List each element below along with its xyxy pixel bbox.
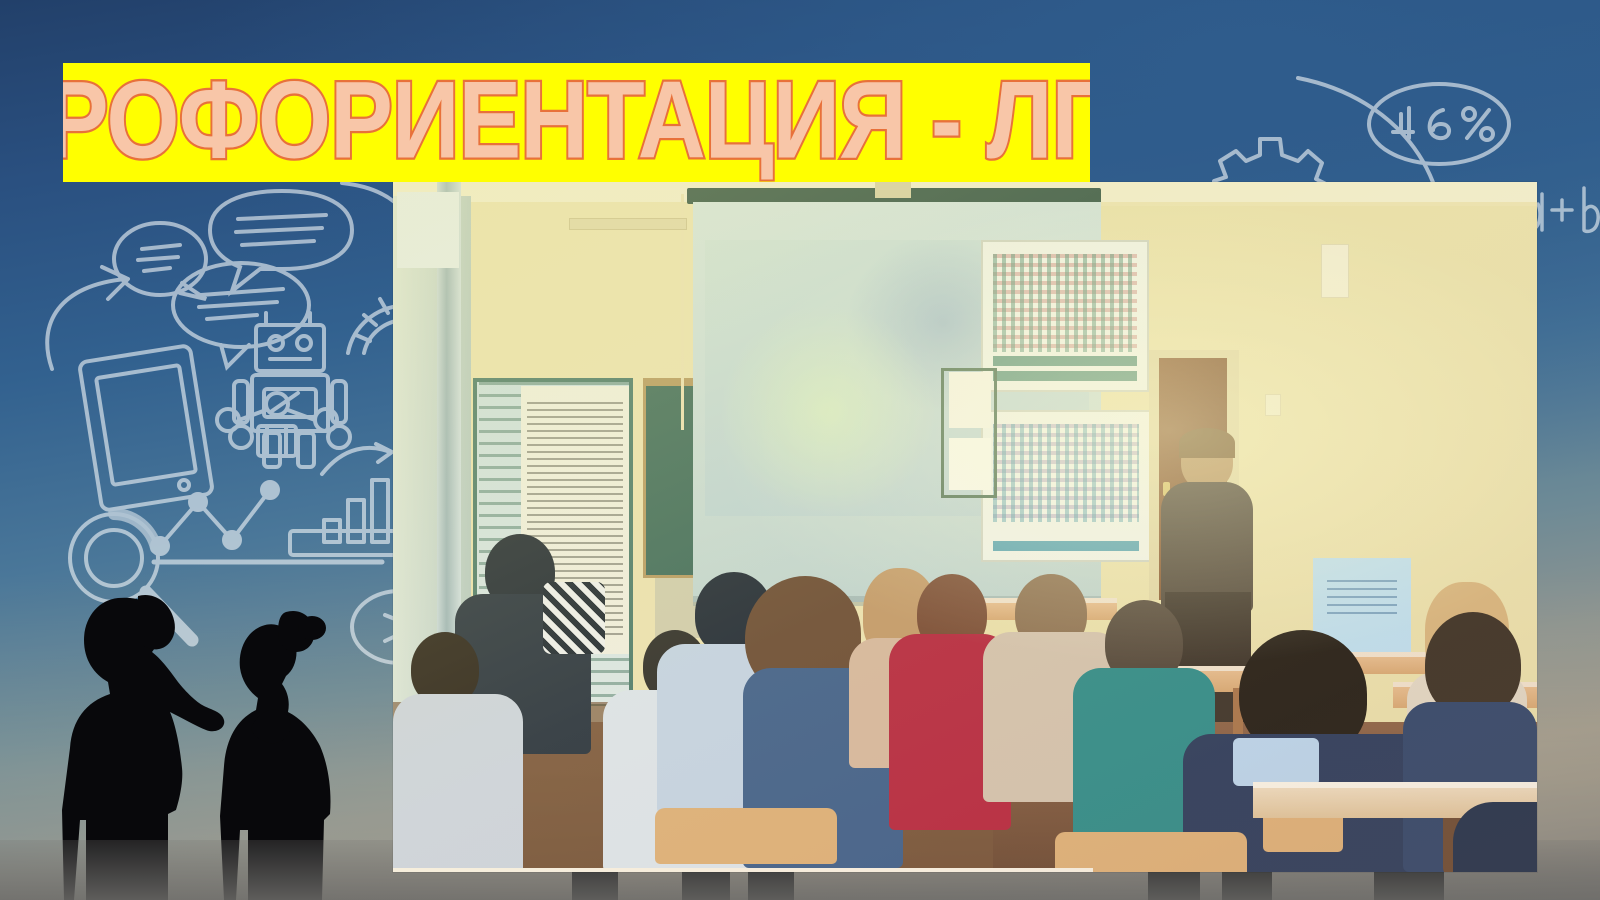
periodic-table-poster (981, 240, 1149, 392)
chair-back (1055, 832, 1247, 872)
wall-notice-left (397, 192, 459, 268)
student-body (393, 694, 523, 872)
slide-canvas: ПРОФОРИЕНТАЦИЯ - ЛПК Классная аудитория:… (0, 0, 1600, 900)
curved-arrow-left-doodle-icon (30, 265, 140, 385)
person-network-doodle-icon (212, 390, 342, 470)
silhouette-group (0, 480, 420, 900)
page-title: ПРОФОРИЕНТАЦИЯ - ЛПК (63, 66, 1090, 175)
title-banner: ПРОФОРИЕНТАЦИЯ - ЛПК (63, 63, 1090, 182)
classroom-photo (393, 182, 1537, 872)
student-desk (393, 868, 1093, 872)
chair-back (655, 808, 837, 864)
percent-badge-doodle-icon (1355, 68, 1525, 178)
solubility-table-poster (981, 410, 1151, 562)
